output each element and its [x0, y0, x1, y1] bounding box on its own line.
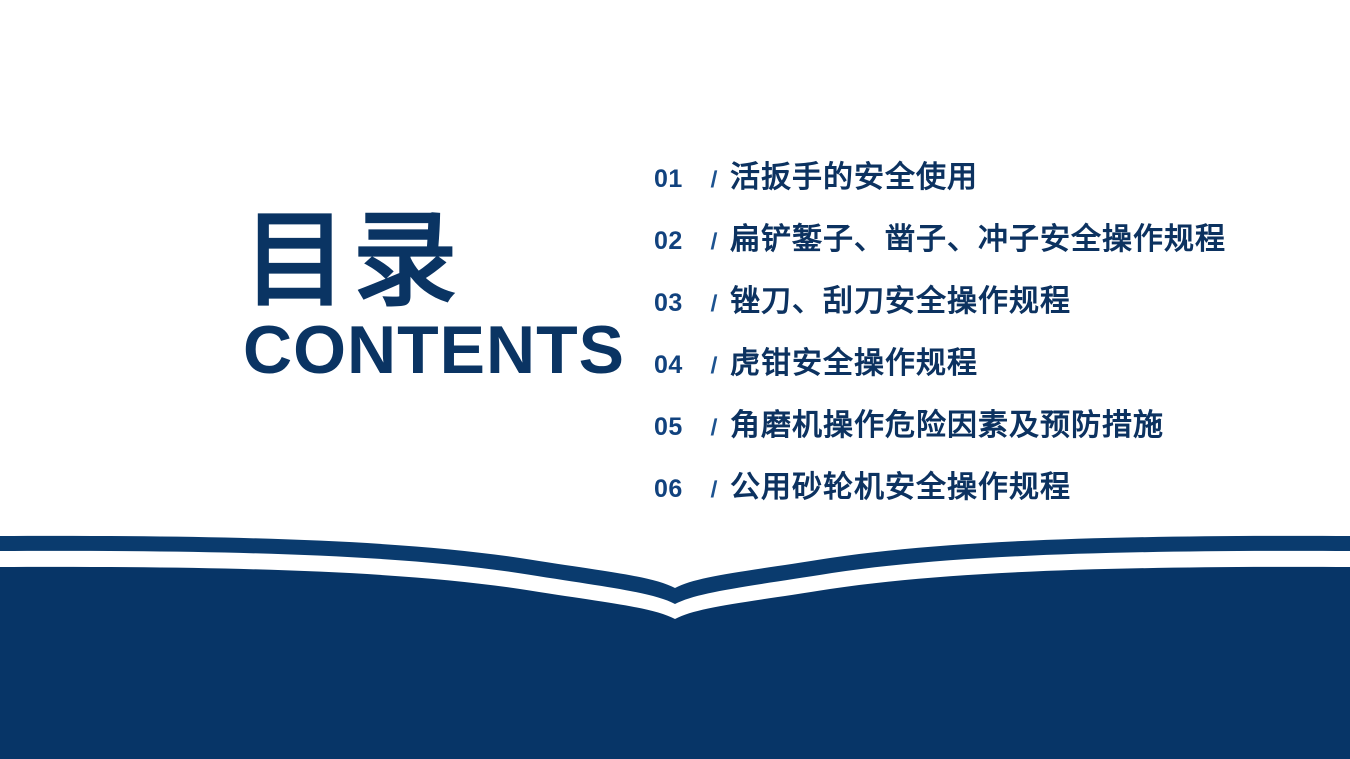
toc-separator-icon: / — [698, 414, 731, 441]
toc-separator-icon: / — [698, 166, 731, 193]
toc-title: 公用砂轮机安全操作规程 — [730, 462, 1071, 506]
open-book-icon — [0, 510, 1350, 759]
toc-number: 06 — [654, 475, 698, 504]
toc-title: 虎钳安全操作规程 — [730, 338, 978, 382]
toc-item-04[interactable]: 04 / 虎钳安全操作规程 — [654, 338, 1314, 400]
toc-number: 02 — [654, 227, 698, 256]
toc-title: 扁铲錾子、凿子、冲子安全操作规程 — [730, 214, 1226, 258]
toc-title: 锉刀、刮刀安全操作规程 — [730, 276, 1071, 320]
toc-item-03[interactable]: 03 / 锉刀、刮刀安全操作规程 — [654, 276, 1314, 338]
toc-item-02[interactable]: 02 / 扁铲錾子、凿子、冲子安全操作规程 — [654, 214, 1314, 276]
page-title: 目录 CONTENTS — [243, 214, 573, 384]
page-title-english: CONTENTS — [243, 316, 573, 384]
toc-number: 03 — [654, 289, 698, 318]
slide-canvas: 目录 CONTENTS 01 / 活扳手的安全使用 02 / 扁铲錾子、凿子、冲… — [0, 0, 1350, 759]
toc-separator-icon: / — [698, 352, 731, 379]
toc-number: 04 — [654, 351, 698, 380]
toc-title: 角磨机操作危险因素及预防措施 — [730, 400, 1164, 444]
table-of-contents: 01 / 活扳手的安全使用 02 / 扁铲錾子、凿子、冲子安全操作规程 03 /… — [654, 152, 1314, 524]
toc-title: 活扳手的安全使用 — [730, 152, 978, 196]
page-title-chinese: 目录 — [243, 214, 573, 310]
toc-separator-icon: / — [698, 290, 731, 317]
toc-item-01[interactable]: 01 / 活扳手的安全使用 — [654, 152, 1314, 214]
toc-number: 05 — [654, 413, 698, 442]
toc-separator-icon: / — [698, 476, 731, 503]
toc-separator-icon: / — [698, 228, 731, 255]
toc-number: 01 — [654, 165, 698, 194]
toc-item-05[interactable]: 05 / 角磨机操作危险因素及预防措施 — [654, 400, 1314, 462]
